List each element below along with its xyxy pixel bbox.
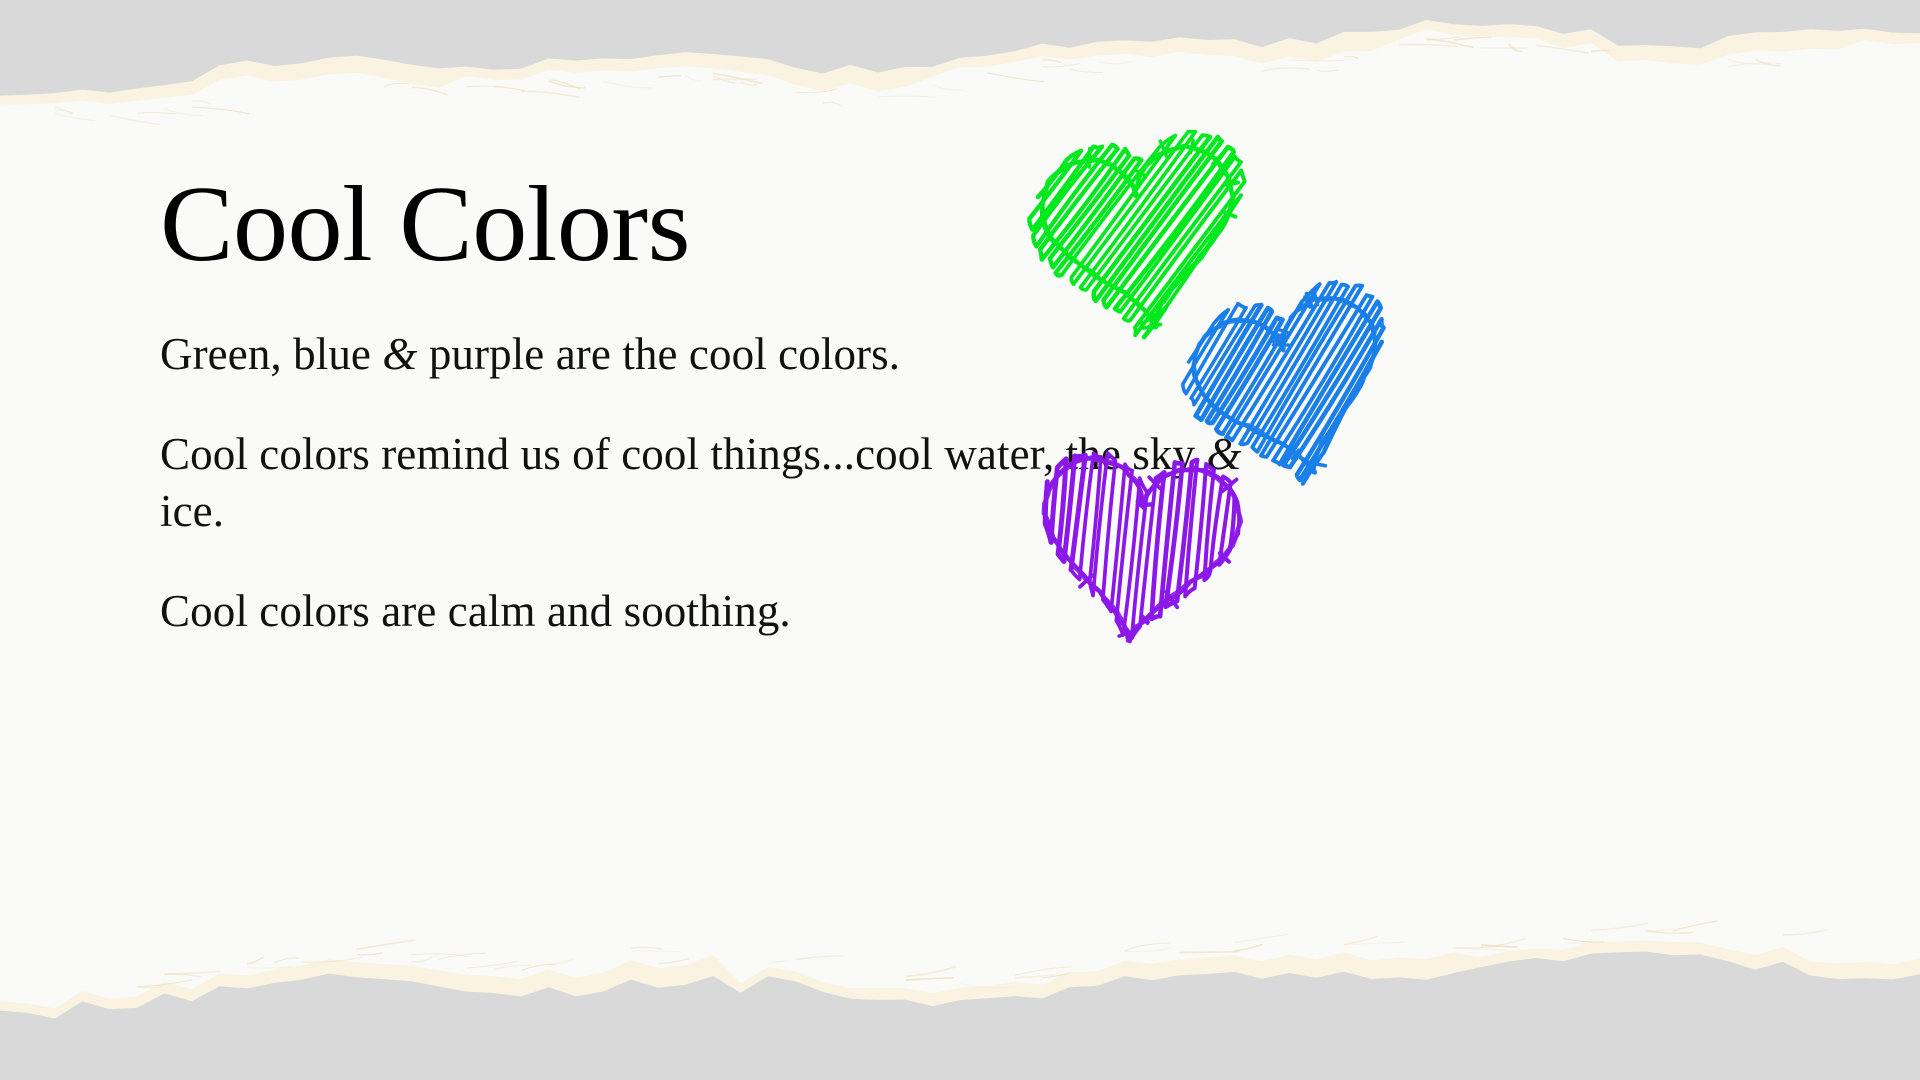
blue-heart-pen-tick <box>1314 292 1317 305</box>
green-heart-pen-tick <box>1227 183 1238 185</box>
ampersand-glyph: & <box>382 329 417 379</box>
green-heart <box>1020 125 1264 351</box>
purple-heart-pen-tick <box>1138 503 1152 506</box>
slide-canvas: Cool Colors Green, blue & purple are the… <box>0 0 1920 1080</box>
scribbled-hearts-artwork <box>1010 110 1510 730</box>
purple-heart <box>1031 444 1247 651</box>
green-heart-fill-scribble <box>1020 125 1264 351</box>
slide-content: Cool Colors Green, blue & purple are the… <box>0 0 1920 1080</box>
